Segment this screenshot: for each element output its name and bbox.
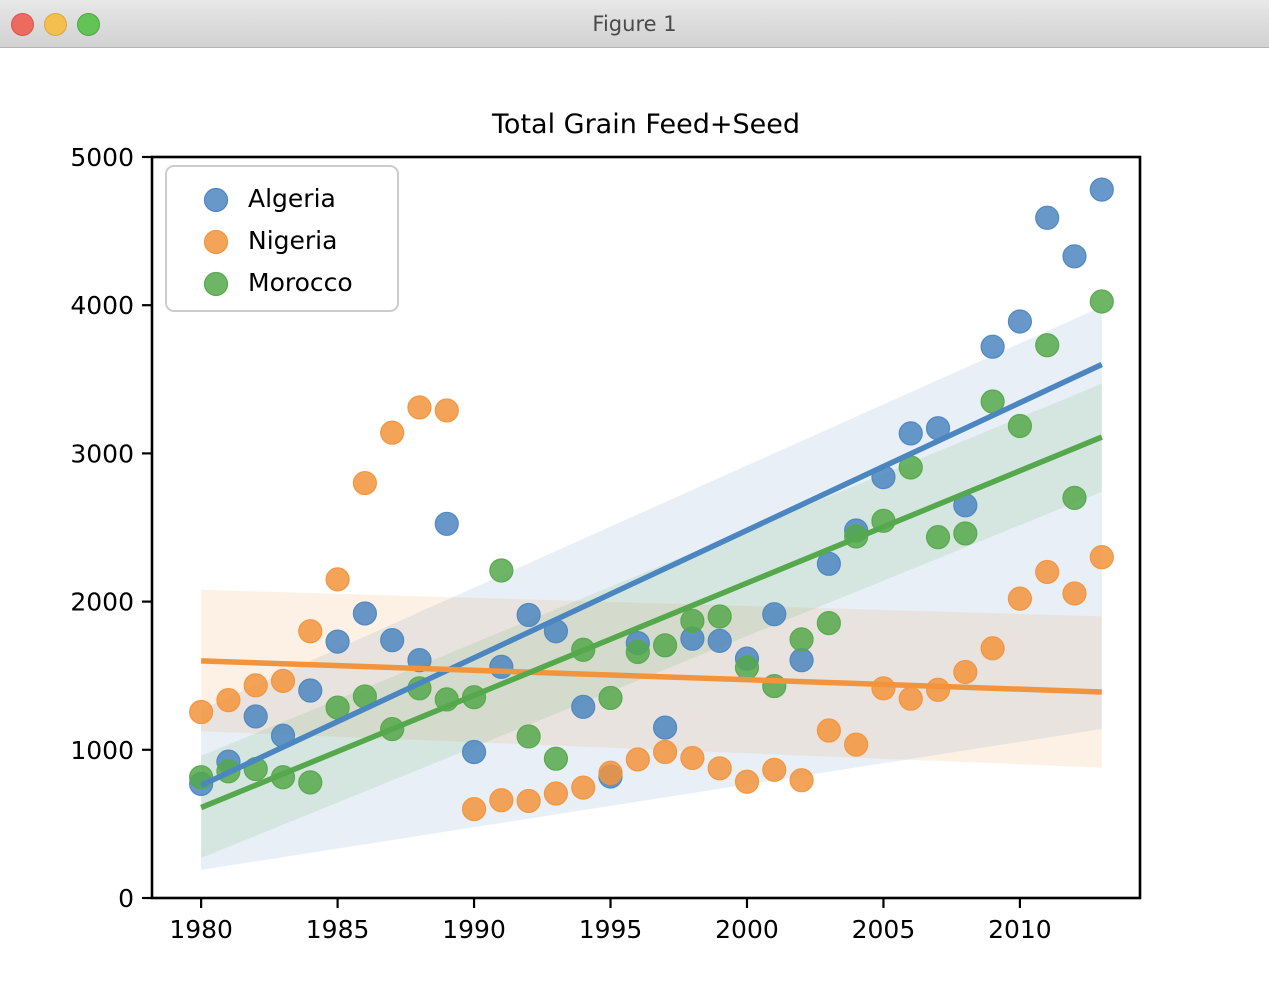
data-point (572, 776, 595, 799)
x-tick-label: 1985 (306, 915, 370, 944)
data-point (1036, 560, 1059, 583)
data-point (626, 748, 649, 771)
data-point (299, 620, 322, 643)
data-point (790, 649, 813, 672)
x-tick-label: 1980 (169, 915, 233, 944)
data-point (790, 769, 813, 792)
data-point (817, 719, 840, 742)
data-point (517, 789, 540, 812)
figure-canvas: Total Grain Feed+Seed0100020003000400050… (0, 48, 1269, 999)
data-point (1063, 245, 1086, 268)
data-point (708, 757, 731, 780)
data-point (435, 399, 458, 422)
data-point (817, 552, 840, 575)
y-tick-label: 1000 (70, 736, 134, 765)
window-titlebar[interactable]: Figure 1 (0, 0, 1269, 48)
data-point (599, 686, 622, 709)
data-point (763, 603, 786, 626)
legend-marker-nigeria (205, 231, 228, 254)
x-tick-label: 2010 (988, 915, 1052, 944)
data-point (1008, 310, 1031, 333)
y-tick-label: 5000 (70, 143, 134, 172)
data-point (1063, 486, 1086, 509)
data-point (190, 701, 213, 724)
data-point (790, 628, 813, 651)
data-point (927, 526, 950, 549)
data-point (1008, 587, 1031, 610)
data-point (927, 678, 950, 701)
data-point (572, 695, 595, 718)
data-point (408, 396, 431, 419)
data-point (1063, 582, 1086, 605)
chart-title: Total Grain Feed+Seed (491, 109, 800, 140)
data-point (654, 716, 677, 739)
window-title: Figure 1 (0, 0, 1269, 48)
regression-scatter-plot: Total Grain Feed+Seed0100020003000400050… (0, 48, 1269, 999)
data-point (381, 629, 404, 652)
data-point (1036, 334, 1059, 357)
data-point (735, 770, 758, 793)
data-point (899, 422, 922, 445)
data-point (244, 705, 267, 728)
data-point (817, 612, 840, 635)
legend-marker-morocco (205, 273, 228, 296)
data-point (326, 568, 349, 591)
data-point (435, 512, 458, 535)
data-point (1036, 206, 1059, 229)
data-point (299, 679, 322, 702)
legend-label-nigeria: Nigeria (248, 226, 337, 255)
data-point (517, 603, 540, 626)
legend-label-morocco: Morocco (248, 268, 353, 297)
data-point (272, 669, 295, 692)
data-point (954, 660, 977, 683)
y-tick-label: 3000 (70, 439, 134, 468)
data-point (872, 677, 895, 700)
data-point (681, 746, 704, 769)
data-point (517, 725, 540, 748)
data-point (626, 640, 649, 663)
data-point (463, 741, 486, 764)
data-point (981, 637, 1004, 660)
data-point (654, 634, 677, 657)
x-tick-label: 2000 (715, 915, 779, 944)
data-point (381, 421, 404, 444)
figure-window: Figure 1 Total Grain Feed+Seed0100020003… (0, 0, 1269, 999)
y-tick-label: 2000 (70, 588, 134, 617)
data-point (708, 629, 731, 652)
data-point (1090, 546, 1113, 569)
data-point (490, 559, 513, 582)
data-point (735, 656, 758, 679)
data-point (544, 782, 567, 805)
data-point (326, 630, 349, 653)
data-point (954, 522, 977, 545)
legend-marker-algeria (205, 189, 228, 212)
data-point (1090, 178, 1113, 201)
data-point (654, 741, 677, 764)
data-point (845, 733, 868, 756)
data-point (899, 687, 922, 710)
data-point (1090, 290, 1113, 313)
x-tick-label: 1995 (579, 915, 643, 944)
y-tick-label: 4000 (70, 291, 134, 320)
data-point (763, 758, 786, 781)
data-point (599, 761, 622, 784)
data-point (981, 335, 1004, 358)
x-tick-label: 1990 (442, 915, 506, 944)
y-tick-label: 0 (118, 884, 134, 913)
data-point (681, 609, 704, 632)
data-point (353, 472, 376, 495)
data-point (490, 789, 513, 812)
data-point (463, 798, 486, 821)
legend-label-algeria: Algeria (248, 184, 336, 213)
data-point (708, 605, 731, 628)
data-point (244, 674, 267, 697)
data-point (217, 689, 240, 712)
data-point (544, 747, 567, 770)
data-point (299, 771, 322, 794)
data-point (490, 655, 513, 678)
x-tick-label: 2005 (852, 915, 916, 944)
data-point (353, 602, 376, 625)
data-point (1008, 414, 1031, 437)
